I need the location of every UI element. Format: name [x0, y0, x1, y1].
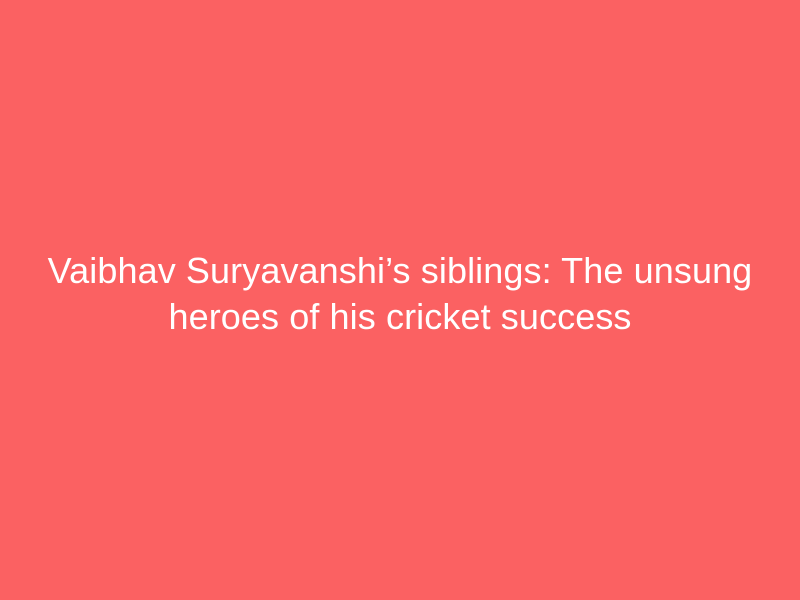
page-title: Vaibhav Suryavanshi’s siblings: The unsu…: [40, 248, 760, 340]
headline-card: Vaibhav Suryavanshi’s siblings: The unsu…: [0, 0, 800, 600]
headline-block: Vaibhav Suryavanshi’s siblings: The unsu…: [0, 248, 800, 340]
